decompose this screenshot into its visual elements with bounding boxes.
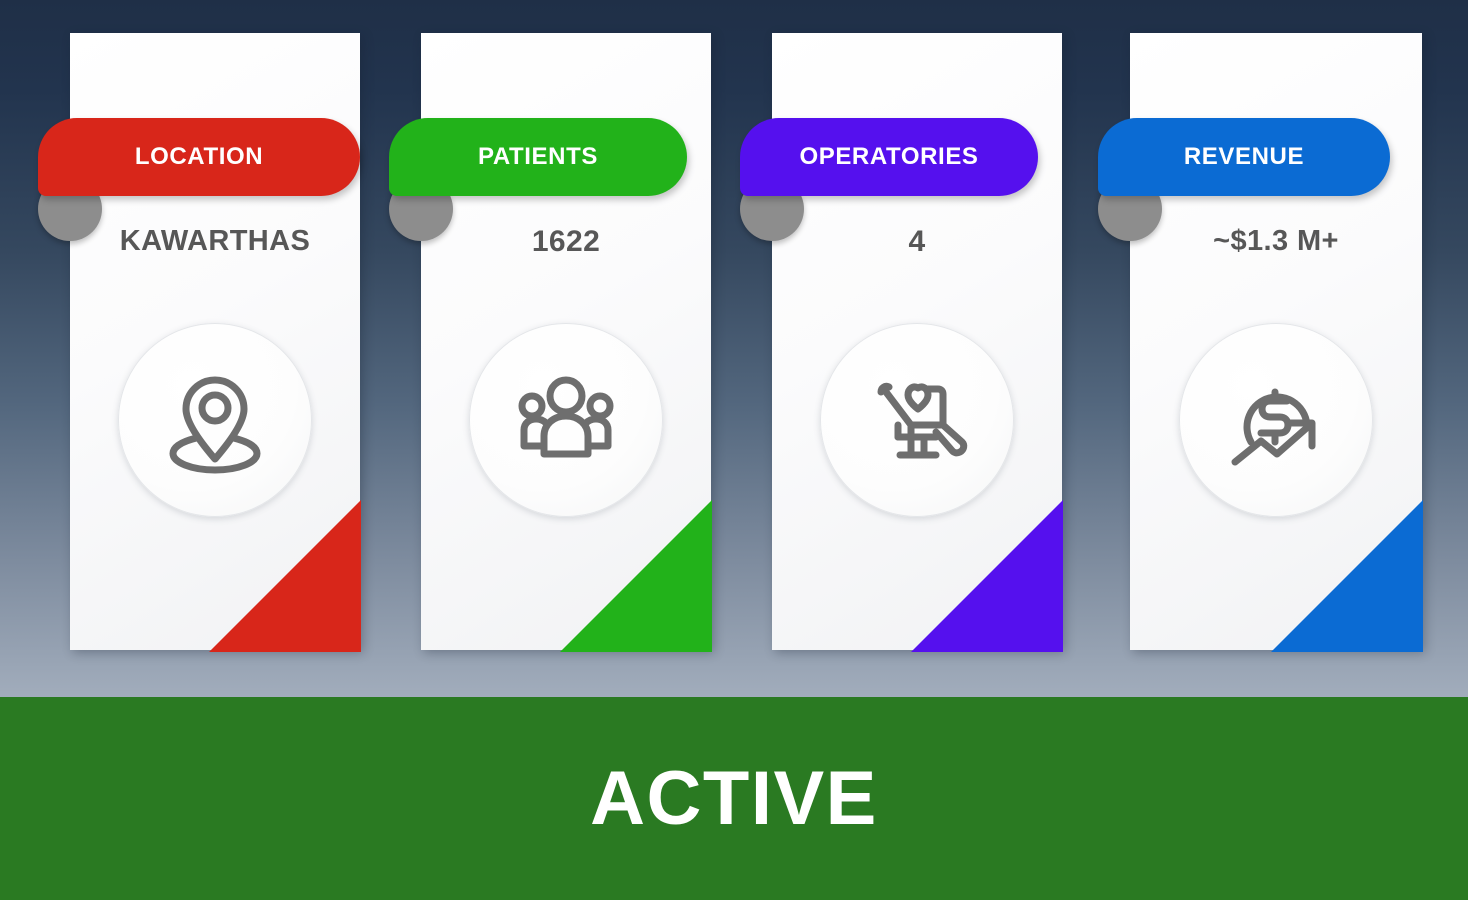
corner-accent-patients bbox=[560, 500, 712, 652]
icon-disc-operatories bbox=[820, 323, 1014, 517]
dollar-growth-icon bbox=[1215, 359, 1337, 481]
dental-chair-icon bbox=[856, 359, 978, 481]
stat-card-operatories[interactable]: OPERATORIES 4 bbox=[772, 33, 1062, 650]
corner-accent-location bbox=[209, 500, 361, 652]
stat-card-patients[interactable]: PATIENTS 1622 bbox=[421, 33, 711, 650]
ribbon-label: LOCATION bbox=[135, 145, 263, 169]
icon-disc-patients bbox=[469, 323, 663, 517]
ribbon-revenue: REVENUE bbox=[1098, 118, 1390, 196]
card-value-location: KAWARTHAS bbox=[70, 225, 360, 258]
ribbon-operatories: OPERATORIES bbox=[740, 118, 1038, 196]
status-banner-label: ACTIVE bbox=[590, 761, 878, 837]
stat-card-location[interactable]: LOCATION KAWARTHAS bbox=[70, 33, 360, 650]
people-group-icon bbox=[506, 360, 626, 480]
icon-disc-revenue bbox=[1179, 323, 1373, 517]
card-value-operatories: 4 bbox=[772, 225, 1062, 259]
icon-disc-location bbox=[118, 323, 312, 517]
ribbon-label: OPERATORIES bbox=[799, 145, 978, 169]
ribbon-location: LOCATION bbox=[38, 118, 360, 196]
card-value-revenue: ~$1.3 M+ bbox=[1130, 225, 1422, 258]
corner-accent-operatories bbox=[911, 500, 1063, 652]
ribbon-label: REVENUE bbox=[1184, 145, 1304, 169]
ribbon-label: PATIENTS bbox=[478, 145, 598, 169]
stat-card-revenue[interactable]: REVENUE ~$1.3 M+ bbox=[1130, 33, 1422, 650]
location-pin-icon bbox=[155, 360, 275, 480]
ribbon-patients: PATIENTS bbox=[389, 118, 687, 196]
infographic-stage: LOCATION KAWARTHAS PATIENTS 1622 bbox=[0, 0, 1468, 900]
card-value-patients: 1622 bbox=[421, 225, 711, 259]
status-banner: ACTIVE bbox=[0, 697, 1468, 900]
corner-accent-revenue bbox=[1271, 500, 1423, 652]
